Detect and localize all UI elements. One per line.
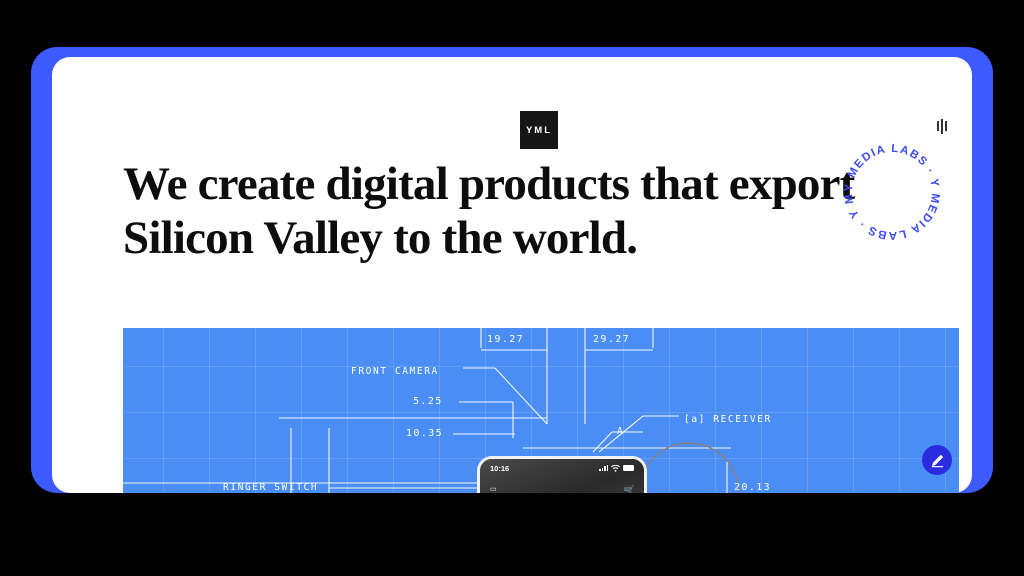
wifi-icon	[611, 465, 620, 472]
menu-icon-bar-3	[945, 121, 947, 131]
hero-section: We create digital products that export S…	[123, 157, 953, 265]
browser-viewport: YML We create digital products that expo…	[52, 57, 972, 493]
device-frame: YML We create digital products that expo…	[31, 47, 993, 493]
site-header	[52, 57, 972, 119]
blueprint-panel: FRONT CAMERA RINGER SWITCH [+] VOLUME BU…	[123, 328, 959, 493]
rotating-badge-text: Y MEDIA LABS · Y MEDIA LABS · Y MEDIA LA…	[839, 139, 941, 241]
bp-label-receiver: [a] RECEIVER	[684, 414, 772, 425]
pencil-icon	[930, 453, 945, 468]
edit-fab-button[interactable]	[922, 445, 952, 475]
phone-status-bar: 10:16	[480, 459, 644, 477]
yml-logo[interactable]: YML	[520, 111, 558, 149]
signal-icon	[599, 465, 608, 472]
yml-logo-text: YML	[526, 125, 552, 136]
bp-dim-29-27: 29.27	[593, 334, 630, 345]
phone-screen: 10:16 24	[480, 459, 644, 493]
phone-card-icon: ▭	[490, 485, 497, 493]
bp-dim-20-13: 20.13	[734, 482, 771, 493]
menu-icon-bar-1	[937, 121, 939, 131]
rotating-badge-svg: Y MEDIA LABS · Y MEDIA LABS · Y MEDIA LA…	[839, 139, 945, 245]
cart-icon[interactable]: 🛒	[624, 485, 635, 493]
battery-icon	[623, 465, 634, 471]
rotating-badge[interactable]: Y MEDIA LABS · Y MEDIA LABS · Y MEDIA LA…	[839, 139, 945, 245]
bp-dim-19-27: 19.27	[487, 334, 524, 345]
phone-status-time: 10:16	[490, 464, 509, 473]
phone-status-icons	[599, 465, 634, 472]
bp-label-ringer-switch: RINGER SWITCH	[223, 482, 318, 493]
bp-label-point-a: A	[617, 426, 624, 437]
bp-dim-10-35: 10.35	[406, 428, 443, 439]
headline-line-2: Silicon Valley to the world.	[123, 211, 953, 265]
menu-icon-bar-2	[941, 119, 943, 134]
bp-label-front-camera: FRONT CAMERA	[351, 366, 439, 377]
bp-dim-5-25: 5.25	[413, 396, 443, 407]
headline-line-1: We create digital products that export	[123, 157, 953, 211]
phone-mockup: 10:16 24	[477, 456, 647, 493]
menu-icon[interactable]	[929, 113, 955, 139]
